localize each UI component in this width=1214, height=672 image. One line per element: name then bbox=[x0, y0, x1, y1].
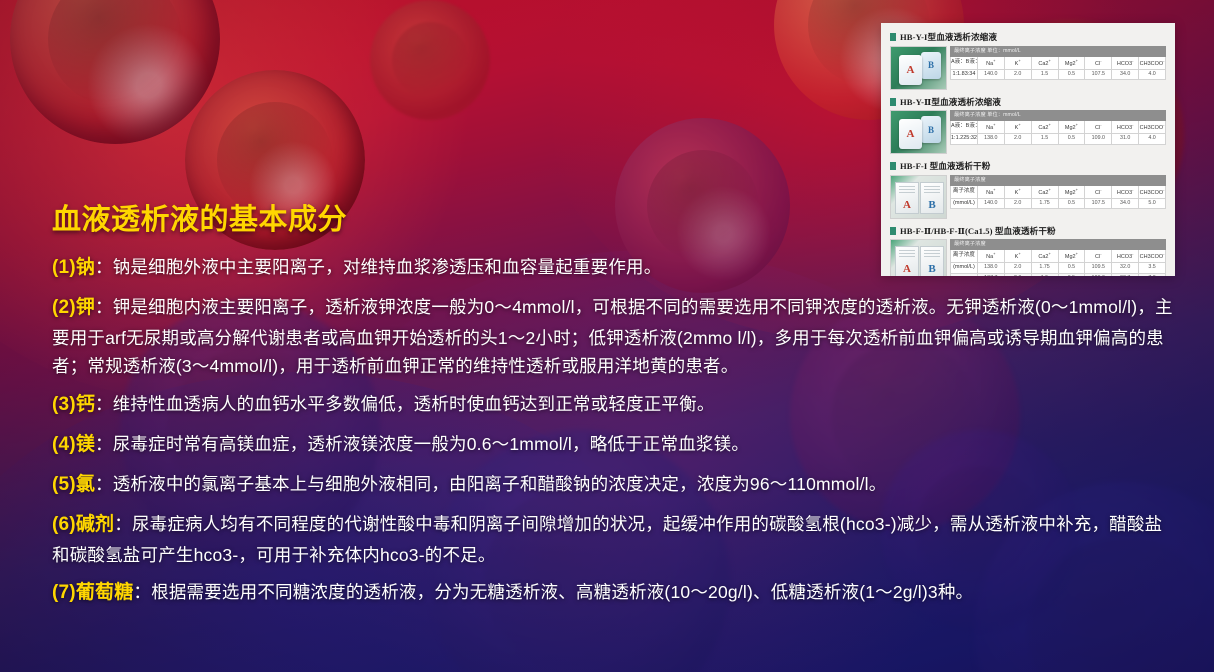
component-item-text: 透析液中的氯离子基本上与细胞外液相同，由阳离子和醋酸钠的浓度决定，浓度为96～1… bbox=[113, 474, 887, 494]
component-item: (3)钙：维持性血透病人的血钙水平多数偏低，透析时使血钙达到正常或轻度正平衡。 bbox=[52, 390, 1177, 421]
product-entry: HB-Y-I型血液透析浓缩液BA最终离子浓度 单位：mmol/LA液：B液：水N… bbox=[890, 31, 1166, 90]
product-title: HB-Y-I型血液透析浓缩液 bbox=[890, 31, 1166, 43]
table-cell-value: 2.0 bbox=[1004, 134, 1031, 144]
table-row-label: 1:1.225:32.775 bbox=[951, 134, 978, 144]
red-blood-cell-icon bbox=[10, 0, 220, 144]
table-row: 1:1.83:34140.02.01.50.5107.534.04.0 bbox=[951, 69, 1166, 79]
component-item-text: 尿毒症时常有高镁血症，透析液镁浓度一般为0.6～1mmol/l，略低于正常血浆镁… bbox=[113, 434, 749, 454]
component-item-text: 钾是细胞内液主要阳离子，透析液钾浓度一般为0～4mmol/l，可根据不同的需要选… bbox=[52, 297, 1173, 376]
component-item: (7)葡萄糖：根据需要选用不同糖浓度的透析液，分为无糖透析液、高糖透析液(10～… bbox=[52, 578, 1177, 609]
component-item-label: (2)钾 bbox=[52, 297, 95, 318]
table-cell-value: 1.5 bbox=[1031, 134, 1058, 144]
component-item: (1)钠：钠是细胞外液中主要阳离子，对维持血浆渗透压和血容量起重要作用。 bbox=[52, 253, 1177, 284]
product-photo: BA bbox=[890, 110, 947, 154]
square-bullet-icon bbox=[890, 33, 896, 41]
table-cell-value: 140.0 bbox=[977, 69, 1004, 79]
product-title: HB-F-I 型血液透析干粉 bbox=[890, 160, 1166, 172]
page-title: 血液透析液的基本成分 bbox=[52, 196, 1177, 238]
table-column-header: Mg2+ bbox=[1058, 121, 1085, 134]
table-cell-value: 31.0 bbox=[1112, 134, 1139, 144]
table-column-header: Na+ bbox=[977, 121, 1004, 134]
table-unit-row: 最终离子浓度 bbox=[951, 175, 1166, 185]
component-item: (5)氯：透析液中的氯离子基本上与细胞外液相同，由阳离子和醋酸钠的浓度决定，浓度… bbox=[52, 470, 1177, 501]
ion-concentration-table: 最终离子浓度 单位：mmol/LA液：B液：水Na+K+Ca2+Mg2+Cl-H… bbox=[950, 110, 1166, 145]
table-cell-value: 107.5 bbox=[1085, 69, 1112, 79]
component-item-separator: ： bbox=[95, 394, 113, 414]
product-body: BA最终离子浓度 单位：mmol/LA液：B液：水Na+K+Ca2+Mg2+Cl… bbox=[890, 46, 1166, 90]
table-column-header: CH3COO- bbox=[1139, 121, 1166, 134]
ion-concentration-table: 最终离子浓度 单位：mmol/LA液：B液：水Na+K+Ca2+Mg2+Cl-H… bbox=[950, 46, 1166, 81]
component-item: (4)镁：尿毒症时常有高镁血症，透析液镁浓度一般为0.6～1mmol/l，略低于… bbox=[52, 430, 1177, 461]
table-cell-value: 4.0 bbox=[1139, 69, 1166, 79]
container-a-icon: A bbox=[899, 119, 922, 149]
product-body: BA最终离子浓度 单位：mmol/LA液：B液：水Na+K+Ca2+Mg2+Cl… bbox=[890, 110, 1166, 154]
product-title: HB-Y-Ⅱ型血液透析浓缩液 bbox=[890, 96, 1166, 108]
table-column-header: A液：B液：水 bbox=[951, 56, 978, 69]
table-column-header: CH3COO- bbox=[1139, 56, 1166, 69]
table-row-label: 1:1.83:34 bbox=[951, 69, 978, 79]
table-column-header: Mg2+ bbox=[1058, 56, 1085, 69]
table-column-header: HCO3- bbox=[1112, 121, 1139, 134]
component-item-separator: ： bbox=[133, 582, 151, 602]
container-b-icon: B bbox=[921, 52, 941, 79]
component-item-label: (6)碱剂 bbox=[52, 514, 114, 535]
component-item-separator: ： bbox=[114, 514, 132, 534]
table-column-header: Cl- bbox=[1085, 56, 1112, 69]
component-item-label: (5)氯 bbox=[52, 474, 95, 495]
product-title-text: HB-Y-I型血液透析浓缩液 bbox=[900, 31, 997, 43]
table-cell-value: 34.0 bbox=[1112, 69, 1139, 79]
table-column-header: Cl- bbox=[1085, 121, 1112, 134]
container-a-icon: A bbox=[899, 55, 922, 85]
product-title-text: HB-F-I 型血液透析干粉 bbox=[900, 160, 990, 172]
table-unit-label: 最终离子浓度 单位：mmol/L bbox=[951, 111, 1166, 121]
table-column-header: HCO3- bbox=[1112, 56, 1139, 69]
square-bullet-icon bbox=[890, 98, 896, 106]
table-header-row: A液：B液：水Na+K+Ca2+Mg2+Cl-HCO3-CH3COO- bbox=[951, 121, 1166, 134]
component-item-label: (3)钙 bbox=[52, 394, 95, 415]
table-column-header: K+ bbox=[1004, 121, 1031, 134]
table-cell-value: 1.5 bbox=[1031, 69, 1058, 79]
table-row: 1:1.225:32.775138.02.01.50.5109.031.04.0 bbox=[951, 134, 1166, 144]
table-cell-value: 0.5 bbox=[1058, 69, 1085, 79]
table-unit-label: 最终离子浓度 单位：mmol/L bbox=[951, 46, 1166, 56]
table-header-row: A液：B液：水Na+K+Ca2+Mg2+Cl-HCO3-CH3COO- bbox=[951, 56, 1166, 69]
content-body: 血液透析液的基本成分 (1)钠：钠是细胞外液中主要阳离子，对维持血浆渗透压和血容… bbox=[52, 196, 1177, 618]
component-item: (2)钾：钾是细胞内液主要阳离子，透析液钾浓度一般为0～4mmol/l，可根据不… bbox=[52, 293, 1177, 381]
slide-root: HB-Y-I型血液透析浓缩液BA最终离子浓度 单位：mmol/LA液：B液：水N… bbox=[0, 0, 1214, 672]
product-title-text: HB-Y-Ⅱ型血液透析浓缩液 bbox=[900, 96, 1001, 108]
table-cell-value: 4.0 bbox=[1139, 134, 1166, 144]
table-column-header: A液：B液：水 bbox=[951, 121, 978, 134]
square-bullet-icon bbox=[890, 162, 896, 170]
component-item-text: 根据需要选用不同糖浓度的透析液，分为无糖透析液、高糖透析液(10～20g/l)、… bbox=[151, 582, 973, 602]
table-column-header: Na+ bbox=[977, 56, 1004, 69]
red-blood-cell-icon bbox=[370, 0, 490, 120]
table-column-header: Ca2+ bbox=[1031, 121, 1058, 134]
product-photo: BA bbox=[890, 46, 947, 90]
component-item-label: (1)钠 bbox=[52, 257, 95, 278]
component-item-text: 尿毒症病人均有不同程度的代谢性酸中毒和阴离子间隙增加的状况，起缓冲作用的碳酸氢根… bbox=[52, 514, 1162, 565]
component-item-label: (7)葡萄糖 bbox=[52, 582, 133, 603]
table-cell-value: 0.5 bbox=[1058, 134, 1085, 144]
component-item-label: (4)镁 bbox=[52, 434, 95, 455]
table-cell-value: 138.0 bbox=[977, 134, 1004, 144]
component-list: (1)钠：钠是细胞外液中主要阳离子，对维持血浆渗透压和血容量起重要作用。(2)钾… bbox=[52, 253, 1177, 609]
component-item-text: 钠是细胞外液中主要阳离子，对维持血浆渗透压和血容量起重要作用。 bbox=[113, 257, 662, 277]
table-unit-row: 最终离子浓度 单位：mmol/L bbox=[951, 46, 1166, 56]
product-entry: HB-Y-Ⅱ型血液透析浓缩液BA最终离子浓度 单位：mmol/LA液：B液：水N… bbox=[890, 96, 1166, 155]
table-cell-value: 2.0 bbox=[1004, 69, 1031, 79]
component-item-separator: ： bbox=[95, 474, 113, 494]
component-item-separator: ： bbox=[95, 257, 113, 277]
component-item: (6)碱剂：尿毒症病人均有不同程度的代谢性酸中毒和阴离子间隙增加的状况，起缓冲作… bbox=[52, 510, 1177, 569]
component-item-text: 维持性血透病人的血钙水平多数偏低，透析时使血钙达到正常或轻度正平衡。 bbox=[113, 394, 715, 414]
component-item-separator: ： bbox=[95, 297, 113, 317]
table-column-header: Ca2+ bbox=[1031, 56, 1058, 69]
table-unit-label: 最终离子浓度 bbox=[951, 175, 1166, 185]
table-unit-row: 最终离子浓度 单位：mmol/L bbox=[951, 111, 1166, 121]
table-cell-value: 109.0 bbox=[1085, 134, 1112, 144]
table-column-header: K+ bbox=[1004, 56, 1031, 69]
component-item-separator: ： bbox=[95, 434, 113, 454]
container-b-icon: B bbox=[921, 116, 941, 143]
